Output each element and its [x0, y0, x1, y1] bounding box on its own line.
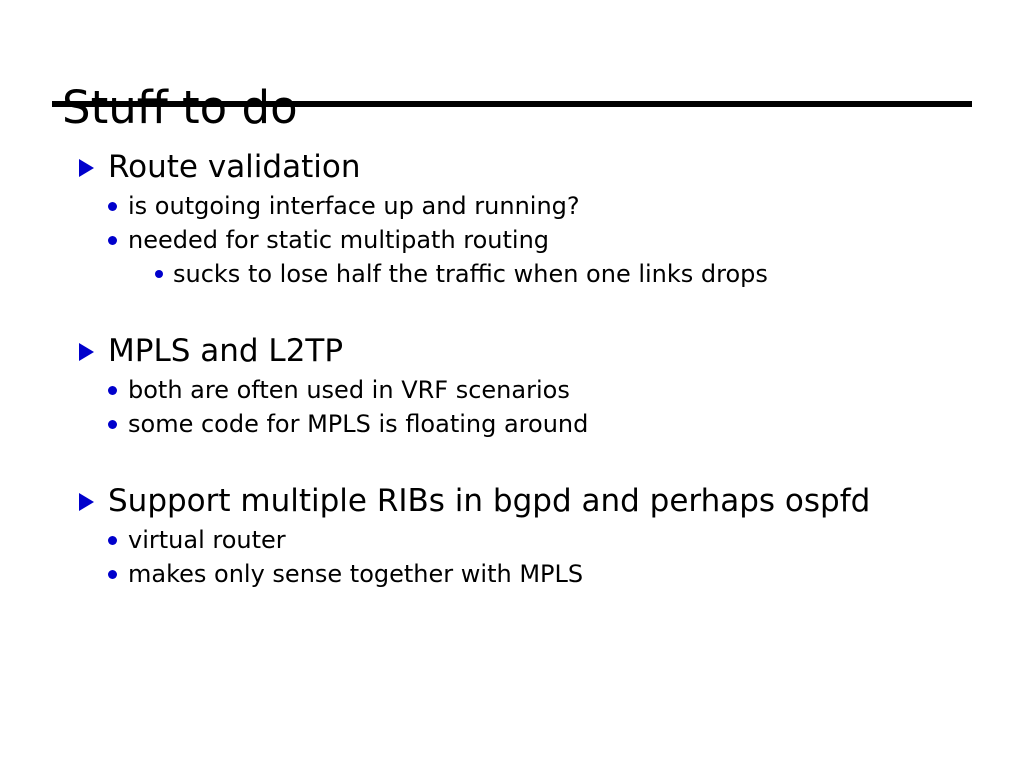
bullet-level2-label: both are often used in VRF scenarios [128, 376, 570, 404]
bullet-level2: is outgoing interface up and running? [0, 189, 1024, 223]
bullet-level2-label: is outgoing interface up and running? [128, 192, 580, 220]
dot-bullet-icon [108, 536, 117, 545]
dot-bullet-icon [108, 570, 117, 579]
page-title: Stuff to do [62, 82, 298, 134]
bullet-group: Support multiple RIBs in bgpd and perhap… [0, 480, 1024, 591]
bullet-group: MPLS and L2TP both are often used in VRF… [0, 330, 1024, 441]
bullet-level1-label: Route validation [108, 149, 360, 185]
dot-bullet-icon [108, 386, 117, 395]
bullet-level2: needed for static multipath routing [0, 223, 1024, 257]
bullet-level2: makes only sense together with MPLS [0, 557, 1024, 591]
triangle-bullet-icon [79, 343, 94, 361]
bullet-level2: both are often used in VRF scenarios [0, 373, 1024, 407]
bullet-level1: Support multiple RIBs in bgpd and perhap… [0, 480, 1024, 523]
dot-bullet-icon [108, 236, 117, 245]
slide-body: Route validation is outgoing interface u… [0, 146, 1024, 591]
title-underline-rule [52, 101, 972, 107]
bullet-level2-label: needed for static multipath routing [128, 226, 549, 254]
bullet-level2: some code for MPLS is floating around [0, 407, 1024, 441]
bullet-level2: virtual router [0, 523, 1024, 557]
slide: Stuff to do Route validation is outgoing… [0, 0, 1024, 768]
bullet-level1-label: Support multiple RIBs in bgpd and perhap… [108, 483, 870, 519]
bullet-level2-label: makes only sense together with MPLS [128, 560, 583, 588]
bullet-level3-label: sucks to lose half the traffic when one … [173, 260, 768, 288]
bullet-level1-label: MPLS and L2TP [108, 333, 343, 369]
triangle-bullet-icon [79, 493, 94, 511]
bullet-level1: Route validation [0, 146, 1024, 189]
bullet-level2-label: virtual router [128, 526, 286, 554]
bullet-level2-label: some code for MPLS is floating around [128, 410, 588, 438]
bullet-group: Route validation is outgoing interface u… [0, 146, 1024, 291]
dot-bullet-icon [108, 420, 117, 429]
triangle-bullet-icon [79, 159, 94, 177]
dot-bullet-icon [155, 270, 163, 278]
bullet-level3: sucks to lose half the traffic when one … [0, 257, 1024, 291]
bullet-level1: MPLS and L2TP [0, 330, 1024, 373]
dot-bullet-icon [108, 202, 117, 211]
